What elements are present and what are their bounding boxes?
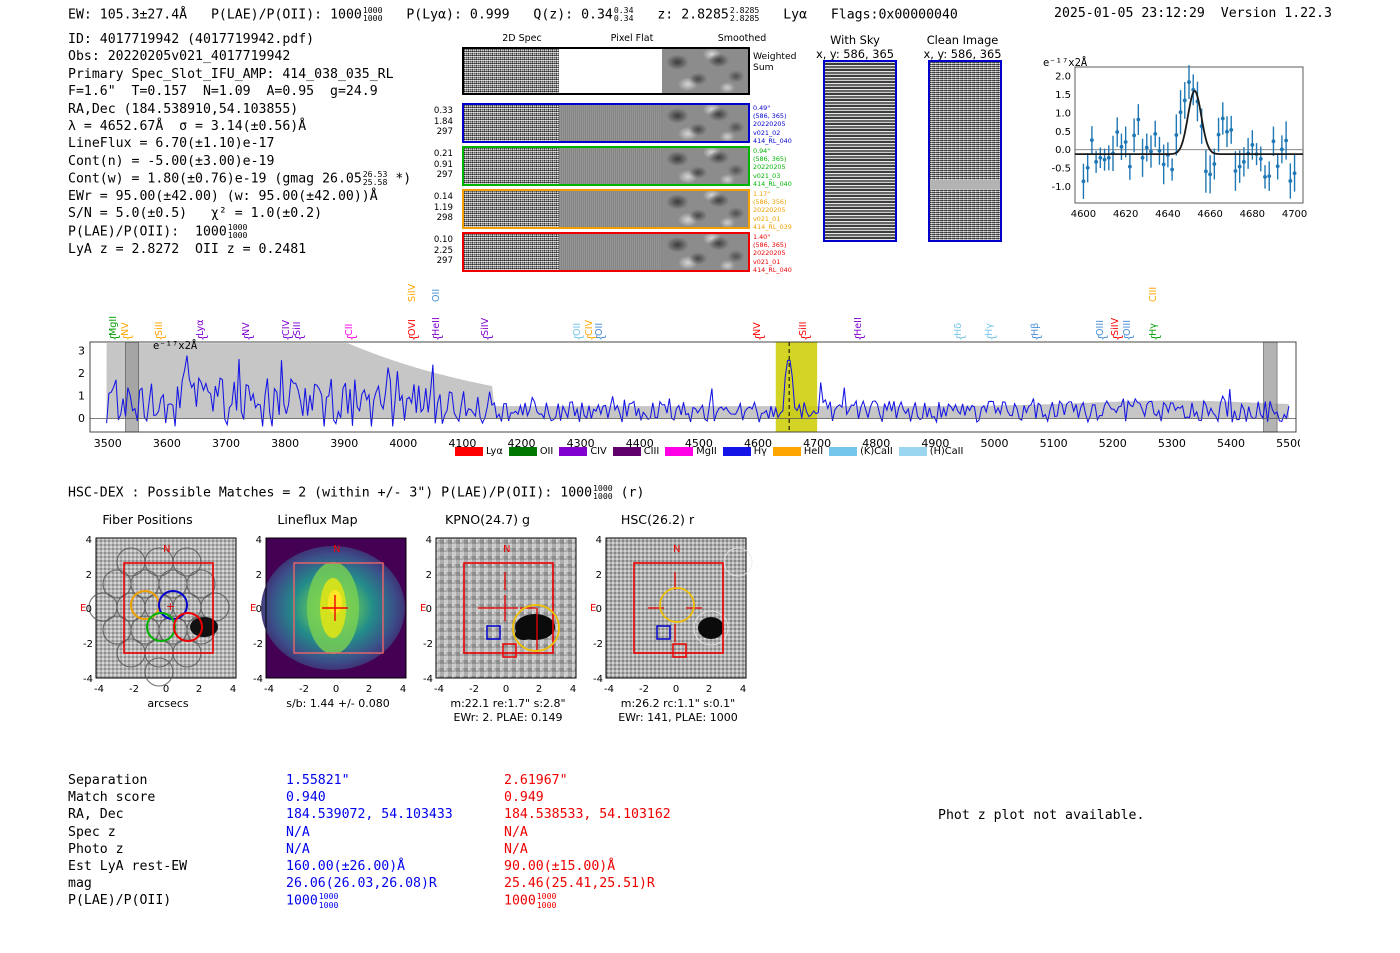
- legend-label: OII: [540, 446, 554, 457]
- table-row: P(LAE)/P(OII)100010001000100010001000: [68, 892, 764, 910]
- emission-line-bracket: {: [242, 334, 255, 341]
- match-col2-value: 25.46(25.41,25.51)R: [504, 875, 764, 892]
- emission-line-label: SiIV: [407, 284, 418, 302]
- spec2d-col-header-smoothed: Smoothed: [687, 33, 797, 44]
- emission-line-bracket: {: [293, 334, 306, 341]
- svg-text:-2: -2: [423, 639, 433, 650]
- svg-text:N: N: [163, 544, 170, 555]
- legend-label: (K)CaII: [860, 446, 893, 457]
- info-line-wavelength: λ = 4652.67Å σ = 3.14(±0.56)Å: [68, 118, 411, 135]
- svg-text:4600: 4600: [1071, 209, 1096, 220]
- info-line-id: ID: 4017719942 (4017719942.pdf): [68, 31, 411, 48]
- header-summary-line: EW: 105.3±27.4Å P(LAE)/P(OII): 100010001…: [68, 6, 958, 22]
- svg-text:2: 2: [366, 684, 372, 695]
- svg-text:-2: -2: [639, 684, 649, 695]
- svg-text:N: N: [673, 544, 680, 555]
- legend-label: CIII: [644, 446, 660, 457]
- legend-entry: Hγ: [723, 446, 767, 457]
- svg-text:0: 0: [596, 604, 602, 615]
- qz-label: Q(z):: [533, 7, 573, 22]
- spec2d-weighted-sum-strip: [462, 47, 750, 95]
- qz-range: 0.340.34: [614, 6, 634, 22]
- svg-text:0: 0: [426, 604, 432, 615]
- legend-entry: OII: [509, 446, 554, 457]
- match-table: Separation1.55821"2.61967"Match score0.9…: [68, 772, 764, 910]
- svg-text:2: 2: [426, 570, 432, 581]
- svg-text:3800: 3800: [271, 437, 299, 450]
- svg-text:-4: -4: [94, 684, 104, 695]
- info-line-contn: Cont(n) = -5.00(±3.00)e-19: [68, 153, 411, 170]
- match-row-label: Match score: [68, 789, 286, 806]
- table-row: Spec zN/AN/A: [68, 824, 764, 841]
- version-label: Version 1.22.3: [1221, 6, 1332, 21]
- hsc-panel: N E 420 -2-4 -4-20 24: [578, 532, 778, 706]
- legend-label: HeII: [804, 446, 823, 457]
- svg-text:4: 4: [400, 684, 406, 695]
- spec2d-row: [462, 232, 750, 272]
- ew-label: EW:: [68, 7, 92, 22]
- svg-text:-2: -2: [299, 684, 309, 695]
- spec2d-row: [462, 103, 750, 143]
- svg-text:0: 0: [503, 684, 509, 695]
- match-row-label: mag: [68, 875, 286, 892]
- svg-text:3700: 3700: [212, 437, 240, 450]
- photz-unavailable-message: Phot z plot not available.: [938, 808, 1144, 823]
- spec2d-row-left-values: 0.210.91297: [419, 149, 453, 181]
- svg-text:3900: 3900: [330, 437, 358, 450]
- match-col1-value: N/A: [286, 824, 504, 841]
- legend-entry: Lyα: [455, 446, 503, 457]
- svg-text:N: N: [503, 544, 510, 555]
- qz-value: 0.34: [581, 7, 613, 22]
- svg-text:4: 4: [570, 684, 576, 695]
- line-name: Lyα: [783, 7, 807, 22]
- match-col1-value: 100010001000: [286, 892, 504, 910]
- legend-entry: (K)CaII: [829, 446, 893, 457]
- svg-text:4: 4: [426, 535, 432, 546]
- emission-line-bracket: {: [954, 334, 967, 341]
- svg-text:3600: 3600: [153, 437, 181, 450]
- legend-swatch: [455, 447, 483, 456]
- legend-swatch: [723, 447, 751, 456]
- info-line-radec: RA,Dec (184.538910,54.103855): [68, 101, 411, 118]
- spec2d-col-header-2dspec: 2D Spec: [467, 33, 577, 44]
- info-line-plae: P(LAE)/P(OII): 100010001000: [68, 223, 411, 241]
- svg-text:-4: -4: [604, 684, 614, 695]
- spec2d-row-right-metadata: 1.40"(586, 365)20220205v021_01414_RL_040: [753, 233, 807, 274]
- match-col2-value: 0.949: [504, 789, 764, 806]
- spec2d-row-right-metadata: 0.94"(586, 365)20220205v021_03414_RL_040: [753, 147, 807, 188]
- svg-text:5400: 5400: [1217, 437, 1245, 450]
- match-col1-value: N/A: [286, 841, 504, 858]
- emission-line-bracket: {: [753, 334, 766, 341]
- match-col2-value: 100010001000: [504, 892, 764, 910]
- svg-text:1.0: 1.0: [1055, 108, 1071, 119]
- svg-text:2: 2: [196, 684, 202, 695]
- emission-line-profile-svg: -1.0-0.50.00.51.01.52.046004620464046604…: [1035, 55, 1310, 240]
- spectrum-legend: LyαOIICIVCIIIMgIIHγHeII(K)CaII(H)CaII: [455, 446, 963, 457]
- hsc-subline-1: m:26.2 rc:1.1" s:0.1": [578, 697, 778, 711]
- emission-line-profile-plot: -1.0-0.50.00.51.01.52.046004620464046604…: [1035, 55, 1310, 220]
- spec2d-row-right-metadata: 1.17"(586, 356)20220205v021_01414_RL_039: [753, 190, 807, 231]
- match-col2-value: N/A: [504, 824, 764, 841]
- hsc-svg: N E 420 -2-4 -4-20 24: [578, 532, 778, 702]
- spec2d-row-left-values: 0.141.19298: [419, 192, 453, 224]
- legend-swatch: [773, 447, 801, 456]
- emission-line-bracket: {: [121, 334, 134, 341]
- svg-text:0: 0: [163, 684, 169, 695]
- svg-text:4700: 4700: [1282, 209, 1307, 220]
- svg-text:2: 2: [706, 684, 712, 695]
- source-info-block: ID: 4017719942 (4017719942.pdf) Obs: 202…: [68, 31, 411, 258]
- svg-text:-4: -4: [434, 684, 444, 695]
- spec2d-weighted-sum-label: Weighted Sum: [753, 51, 797, 73]
- emission-line-bracket: {: [594, 334, 607, 341]
- info-line-seeing: F=1.6" T=0.157 N=1.09 A=0.95 g=24.9: [68, 83, 411, 100]
- hsc-subline-2: EWr: 141, PLAE: 1000: [578, 711, 778, 725]
- hscdex-title: HSC-DEX : Possible Matches = 2 (within +…: [68, 484, 644, 500]
- full-spectrum-svg: 0123350036003700380039004000410042004300…: [68, 280, 1300, 465]
- legend-label: (H)CaII: [930, 446, 964, 457]
- table-row: Photo zN/AN/A: [68, 841, 764, 858]
- table-row: Est LyA rest-EW160.00(±26.00)Å90.00(±15.…: [68, 858, 764, 875]
- match-row-label: Photo z: [68, 841, 286, 858]
- svg-text:4: 4: [256, 535, 262, 546]
- hscdex-plae-range: 10001000: [593, 484, 613, 500]
- legend-entry: CIII: [613, 446, 660, 457]
- match-row-label: RA, Dec: [68, 806, 286, 823]
- spec2d-col-header-pixelflat: Pixel Flat: [577, 33, 687, 44]
- svg-text:-2: -2: [129, 684, 139, 695]
- svg-text:4000: 4000: [389, 437, 417, 450]
- spec2d-row-left-values: 0.331.84297: [419, 106, 453, 138]
- legend-swatch: [559, 447, 587, 456]
- svg-text:4660: 4660: [1197, 209, 1222, 220]
- z-value: 2.8285: [681, 7, 729, 22]
- match-col1-value: 1.55821": [286, 772, 504, 789]
- svg-text:-2: -2: [253, 639, 263, 650]
- match-col1-value: 184.539072, 54.103433: [286, 806, 504, 823]
- match-col2-value: N/A: [504, 841, 764, 858]
- svg-text:0: 0: [673, 684, 679, 695]
- specplot-unit-annotation: e⁻¹⁷x2Å: [153, 340, 197, 352]
- svg-text:4: 4: [86, 535, 92, 546]
- emission-line-bracket: {: [1096, 334, 1109, 341]
- match-row-label: P(LAE)/P(OII): [68, 892, 286, 910]
- svg-text:-2: -2: [469, 684, 479, 695]
- svg-text:4: 4: [740, 684, 746, 695]
- svg-text:-2: -2: [83, 639, 93, 650]
- match-col2-value: 90.00(±15.00)Å: [504, 858, 764, 875]
- spec2d-row: [462, 189, 750, 229]
- table-row: Separation1.55821"2.61967": [68, 772, 764, 789]
- info-line-contw: Cont(w) = 1.80(±0.76)e-19 (gmag 26.0526.…: [68, 170, 411, 188]
- match-col1-value: 26.06(26.03,26.08)R: [286, 875, 504, 892]
- svg-text:0: 0: [333, 684, 339, 695]
- spec2d-row-left-values: 0.102.25297: [419, 235, 453, 267]
- emission-line-bracket: {: [1030, 334, 1043, 341]
- panel-title-hsc: HSC(26.2) r: [545, 512, 770, 527]
- svg-text:-4: -4: [83, 674, 93, 685]
- svg-text:5500: 5500: [1276, 437, 1300, 450]
- svg-text:0: 0: [78, 412, 85, 425]
- svg-text:-4: -4: [423, 674, 433, 685]
- emission-line-bracket: {: [1122, 334, 1135, 341]
- legend-label: Hγ: [754, 446, 767, 457]
- spec2d-row-right-metadata: 0.49"(586, 365)20220205v021_02414_RL_040: [753, 104, 807, 145]
- legend-entry: MgII: [665, 446, 716, 457]
- match-col2-value: 184.538533, 54.103162: [504, 806, 764, 823]
- legend-label: CIV: [590, 446, 606, 457]
- emission-line-label: MgII: [108, 316, 119, 336]
- plya-label: P(Lyα):: [406, 7, 462, 22]
- info-line-specslot: Primary Spec_Slot_IFU_AMP: 414_038_035_R…: [68, 66, 411, 83]
- emission-line-bracket: {: [345, 334, 358, 341]
- gmag-range: 26.5325.58: [363, 170, 388, 186]
- svg-text:5100: 5100: [1040, 437, 1068, 450]
- legend-entry: (H)CaII: [899, 446, 964, 457]
- plae-label: P(LAE)/P(OII):: [211, 7, 322, 22]
- svg-text:-4: -4: [264, 684, 274, 695]
- svg-text:0.5: 0.5: [1055, 127, 1071, 138]
- emission-line-bracket: {: [481, 334, 494, 341]
- match-row-label: Est LyA rest-EW: [68, 858, 286, 875]
- emission-line-bracket: {: [799, 334, 812, 341]
- emission-line-bracket: {: [853, 334, 866, 341]
- lineplot-unit-annotation: e⁻¹⁷x2Å: [1043, 57, 1087, 69]
- svg-text:1.5: 1.5: [1055, 90, 1071, 101]
- table-row: mag26.06(26.03,26.08)R25.46(25.41,25.51)…: [68, 875, 764, 892]
- ew-value: 105.3±27.4Å: [100, 7, 187, 22]
- info-line-lineflux: LineFlux = 6.70(±1.10)e-17: [68, 135, 411, 152]
- svg-text:0: 0: [256, 604, 262, 615]
- svg-text:4: 4: [230, 684, 236, 695]
- legend-entry: HeII: [773, 446, 823, 457]
- emission-line-bracket: {: [1149, 334, 1162, 341]
- cutout-clean-image-image: [928, 60, 1002, 242]
- emission-line-bracket: {: [407, 334, 420, 341]
- match-col1-value: 160.00(±26.00)Å: [286, 858, 504, 875]
- cutout-with-sky-image: [823, 60, 897, 242]
- z-range: 2.82852.8285: [730, 6, 760, 22]
- info-line-obs: Obs: 20220205v021_4017719942: [68, 48, 411, 65]
- table-row: RA, Dec184.539072, 54.103433184.538533, …: [68, 806, 764, 823]
- svg-text:2: 2: [78, 367, 85, 380]
- hsc-sublines: m:26.2 rc:1.1" s:0.1" EWr: 141, PLAE: 10…: [578, 697, 778, 725]
- match-row-label: Spec z: [68, 824, 286, 841]
- emission-line-bracket: {: [431, 334, 444, 341]
- svg-text:3: 3: [78, 345, 85, 358]
- info-plae-range: 10001000: [228, 223, 248, 239]
- legend-swatch: [613, 447, 641, 456]
- legend-swatch: [829, 447, 857, 456]
- svg-text:5200: 5200: [1099, 437, 1127, 450]
- timestamp-version: 2025-01-05 23:12:29 Version 1.22.3: [1054, 6, 1332, 21]
- match-col1-value: 0.940: [286, 789, 504, 806]
- plya-value: 0.999: [470, 7, 510, 22]
- match-col2-value: 2.61967": [504, 772, 764, 789]
- info-line-sn-chi2: S/N = 5.0(±0.5) χ² = 1.0(±0.2): [68, 205, 411, 222]
- emission-line-label: OII: [431, 289, 442, 302]
- svg-text:2: 2: [86, 570, 92, 581]
- match-row-label: Separation: [68, 772, 286, 789]
- svg-text:4: 4: [596, 535, 602, 546]
- svg-text:2: 2: [256, 570, 262, 581]
- svg-text:2: 2: [536, 684, 542, 695]
- flags-value: Flags:0x00000040: [831, 7, 958, 22]
- z-label: z:: [657, 7, 673, 22]
- plae-range: 10001000: [363, 6, 383, 22]
- svg-text:+: +: [166, 600, 175, 613]
- full-spectrum-plot: MgII{NV{SiII{Lyα{NV{CIV{SiII{CII{OVI{SiI…: [68, 280, 1300, 465]
- legend-label: Lyα: [486, 446, 503, 457]
- svg-text:4640: 4640: [1155, 209, 1180, 220]
- legend-swatch: [665, 447, 693, 456]
- svg-text:5300: 5300: [1158, 437, 1186, 450]
- info-line-ewr: EWr = 95.00(±42.00) (w: 95.00(±42.00))Å: [68, 188, 411, 205]
- spec2d-row: [462, 146, 750, 186]
- legend-label: MgII: [696, 446, 716, 457]
- svg-text:0: 0: [86, 604, 92, 615]
- svg-text:1: 1: [78, 390, 85, 403]
- svg-text:4620: 4620: [1113, 209, 1138, 220]
- svg-text:-2: -2: [593, 639, 603, 650]
- legend-entry: CIV: [559, 446, 606, 457]
- svg-text:3500: 3500: [94, 437, 122, 450]
- cutout-with-sky-label: With Sky x, y: 586, 365: [800, 33, 910, 61]
- svg-text:-4: -4: [253, 674, 263, 685]
- cutout-clean-image-label: Clean Image x, y: 586, 365: [905, 33, 1020, 61]
- legend-swatch: [509, 447, 537, 456]
- timestamp: 2025-01-05 23:12:29: [1054, 6, 1205, 21]
- svg-text:4680: 4680: [1240, 209, 1265, 220]
- svg-text:-4: -4: [593, 674, 603, 685]
- legend-swatch: [899, 447, 927, 456]
- table-row: Match score0.9400.949: [68, 789, 764, 806]
- emission-line-label: CIII: [1148, 287, 1159, 302]
- plae-value: 1000: [330, 7, 362, 22]
- svg-text:-0.5: -0.5: [1051, 164, 1071, 175]
- svg-text:-1.0: -1.0: [1051, 182, 1071, 193]
- emission-line-bracket: {: [196, 334, 209, 341]
- emission-line-bracket: {: [985, 334, 998, 341]
- svg-text:2.0: 2.0: [1055, 72, 1071, 83]
- svg-text:5000: 5000: [981, 437, 1009, 450]
- svg-text:0.0: 0.0: [1055, 145, 1071, 156]
- svg-text:2: 2: [596, 570, 602, 581]
- svg-text:N: N: [333, 544, 340, 555]
- info-line-redshifts: LyA z = 2.8272 OII z = 0.2481: [68, 241, 411, 258]
